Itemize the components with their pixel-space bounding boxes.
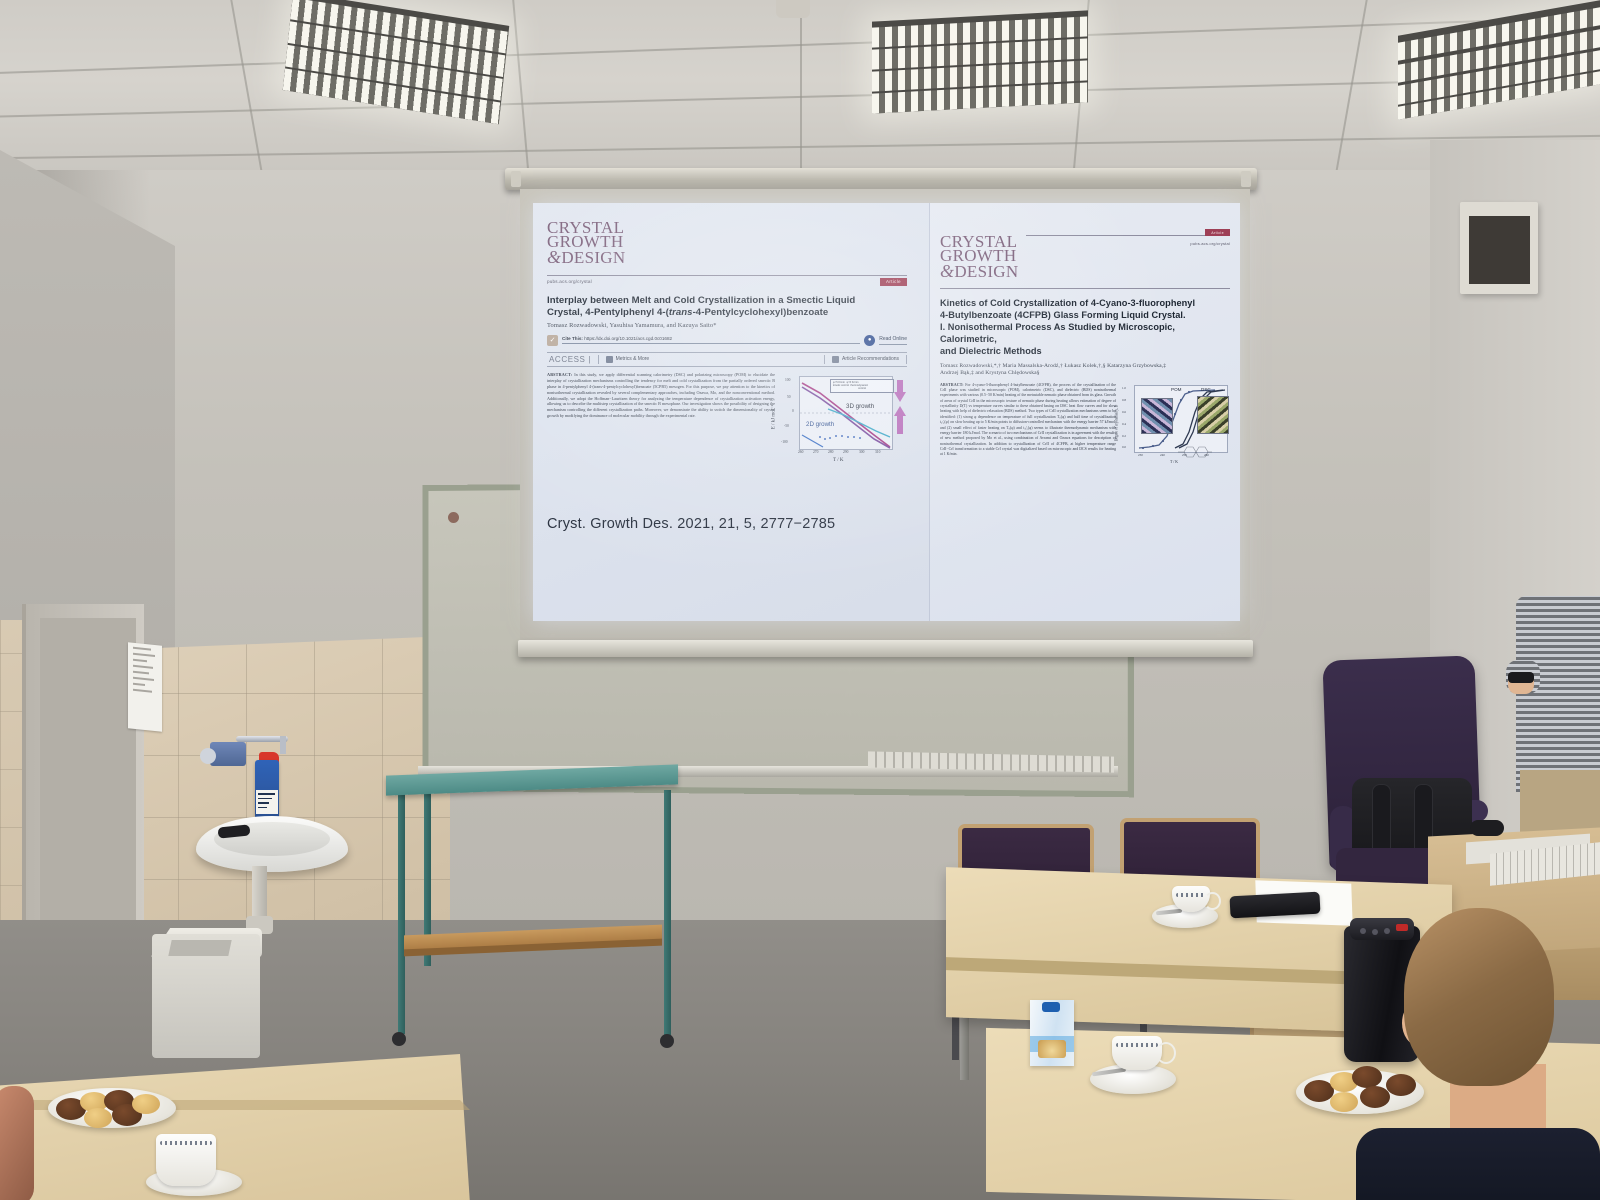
article-badge-left: Article: [880, 278, 907, 286]
screen-roller-housing[interactable]: [505, 168, 1257, 190]
article-badge-right: Article: [1205, 229, 1230, 236]
chart1-annotation-2d: 2D growth: [806, 421, 834, 428]
spray-bottle-label: [256, 790, 278, 814]
article-title-left-line1: Interplay between Melt and Cold Crystall…: [547, 295, 855, 306]
masthead-design: DESIGN: [561, 248, 625, 267]
pom-texture-1: [1141, 398, 1173, 434]
trolley-leg-2: [664, 790, 671, 1036]
access-label[interactable]: ACCESS: [549, 355, 586, 364]
article-title-right-3: I. Nonisothermal Process As Studied by M…: [940, 322, 1175, 344]
cup-handle-2: [1156, 1042, 1176, 1064]
board-magnet: [448, 512, 459, 523]
trolley-caster-2: [660, 1034, 674, 1048]
wall-speaker: [1460, 202, 1538, 294]
faucet-outlet: [280, 736, 286, 754]
abstract-left: ABSTRACT: In this study, we apply differ…: [547, 372, 775, 419]
chart1-arrows: [893, 378, 907, 450]
trolley-caster-1: [392, 1032, 406, 1046]
masthead-line3: &DESIGN: [547, 250, 927, 265]
chart2-legend-pom: POM: [1171, 387, 1181, 392]
faucet-knob[interactable]: [200, 748, 216, 764]
chart1-xtick-1: 270: [813, 450, 818, 454]
chart2-legend-dsc: DSC: [1201, 387, 1211, 392]
wall-notice: [128, 642, 162, 732]
cookie-12: [132, 1094, 160, 1114]
chart2-xtick-1: 240: [1160, 453, 1165, 457]
abstract-body-left: In this study, we apply differential sca…: [547, 372, 775, 418]
chart2-ylabel: Degree of crystallinity, D: [1114, 404, 1118, 441]
presentation-clicker[interactable]: [1508, 672, 1534, 683]
chart1-xtick-3: 290: [843, 450, 848, 454]
pom-texture-2: [1197, 396, 1229, 434]
bar-chart-icon: [606, 356, 613, 363]
masthead-right-design: DESIGN: [954, 262, 1018, 281]
chart1-annotation-3d: 3D growth: [846, 403, 874, 410]
trolley-leg-1: [398, 784, 405, 1034]
toc-graphic-right: Degree of crystallinity, D: [1122, 383, 1228, 471]
chart2-xlabel: T / K: [1170, 460, 1178, 464]
masthead-rule: [547, 275, 907, 276]
chart1-plot-area: φ<5 K/min φ>5 K/min kinetic control ther…: [799, 376, 893, 450]
chart1-xtick-4: 300: [859, 450, 864, 454]
recommendations-label: Article Recommendations: [842, 356, 899, 362]
cup-handle-1: [1204, 892, 1221, 910]
foreground-person-shoulder: [0, 1086, 34, 1200]
screen-bottom-bar[interactable]: [518, 640, 1253, 657]
access-bar-left: ACCESS | Metrics & More Article Recommen…: [547, 352, 907, 367]
milk-carton-image: [1038, 1040, 1066, 1058]
abstract-right: ABSTRACT: For 4-cyano-3-fluorophenyl 4-b…: [940, 383, 1116, 458]
chart1-xtick-2: 280: [828, 450, 833, 454]
thermos-button-2[interactable]: [1372, 929, 1378, 935]
chart1-legend: φ<5 K/min φ>5 K/min kinetic control ther…: [830, 379, 894, 393]
article-title-left-line2b: -4-Pentylcyclohexyl)benzoate: [693, 307, 829, 318]
ceiling-light-center: [872, 10, 1088, 113]
chart1-ylabel: E / kJ mol⁻¹: [770, 405, 776, 430]
cookie-4: [1330, 1092, 1358, 1112]
listener-shoulders: [1356, 1128, 1600, 1200]
ceiling: [0, 0, 1600, 178]
recommendations-item[interactable]: Article Recommendations: [825, 356, 906, 363]
article-title-right-2: 4-Butylbenzoate (4CFPB) Glass Forming Li…: [940, 310, 1186, 320]
mouse[interactable]: [1470, 820, 1504, 836]
citation-line-left: Cryst. Growth Des. 2021, 21, 5, 2777−278…: [547, 516, 927, 532]
slide-right-article: CRYSTAL GROWTH &DESIGN Article pubs.acs.…: [929, 203, 1240, 621]
milk-carton-cap[interactable]: [1042, 1002, 1060, 1012]
chart1-xlabel: T / K: [833, 458, 843, 463]
cookie-3: [1352, 1066, 1382, 1088]
cite-this-label: Cite This:: [562, 336, 583, 341]
waste-bin-flap[interactable]: [168, 940, 231, 956]
slide-left-article: CRYSTAL GROWTH &DESIGN pubs.acs.org/crys…: [547, 203, 927, 621]
cite-check-icon: ✓: [547, 335, 558, 346]
metrics-label: Metrics & More: [616, 356, 650, 362]
cookie-6: [1386, 1074, 1416, 1096]
thermos-indicator: [1396, 924, 1408, 931]
metrics-item[interactable]: Metrics & More: [599, 356, 657, 363]
masthead-right-line3: &DESIGN: [940, 264, 1230, 279]
glasses-case[interactable]: [1229, 892, 1320, 919]
article-title-left: Interplay between Melt and Cold Crystall…: [547, 295, 907, 319]
journal-masthead-right: CRYSTAL GROWTH &DESIGN: [940, 235, 1230, 279]
article-authors-left: Tomasz Rozwadowski, Yasuhisa Yamamura, a…: [547, 322, 907, 329]
photo-scene: CRYSTAL GROWTH &DESIGN pubs.acs.org/crys…: [0, 0, 1600, 1200]
projected-slide: CRYSTAL GROWTH &DESIGN pubs.acs.org/crys…: [533, 203, 1239, 621]
recommendations-icon: [832, 356, 839, 363]
read-online-icon[interactable]: ●: [864, 335, 875, 346]
article-authors-right-1: Tomasz Rozwadowski,*,† Maria Massalska-A…: [940, 363, 1230, 369]
abstract-head-right: ABSTRACT:: [940, 383, 964, 387]
article-title-right-4: and Dielectric Methods: [940, 346, 1042, 356]
article-title-left-italic: trans: [669, 307, 693, 318]
molecule-structure-icon: [1178, 439, 1212, 465]
ceiling-sensor: [776, 0, 810, 18]
presenter-torso: [1516, 596, 1600, 792]
cookie-10: [84, 1108, 112, 1128]
article-authors-right-2: Andrzej Bąk,‡ and Krystyna Chlędowska§: [940, 370, 1230, 376]
journal-url-left: pubs.acs.org/crystal: [547, 279, 592, 284]
masthead-ampersand: &: [547, 247, 561, 267]
toc-graphic-left: E / kJ mol⁻¹: [783, 374, 905, 470]
cookie-5: [1360, 1086, 1390, 1108]
coffee-cup-2[interactable]: [1112, 1036, 1162, 1070]
coffee-cup-3[interactable]: [156, 1134, 216, 1186]
article-title-left-line2a: Crystal, 4-Pentylphenyl 4-(: [547, 307, 669, 318]
abstract-body-right: For 4-cyano-3-fluorophenyl 4-butylbenzoa…: [940, 383, 1116, 457]
thermos-button-3[interactable]: [1384, 928, 1390, 934]
article-title-right-1: Kinetics of Cold Crystallization of 4-Cy…: [940, 298, 1195, 308]
thermos-button-1[interactable]: [1360, 928, 1366, 934]
article-title-right: Kinetics of Cold Crystallization of 4-Cy…: [940, 298, 1230, 358]
cite-this-text[interactable]: Cite This: https://dx.doi.org/10.1021/ac…: [562, 336, 860, 344]
cite-bar-left: ✓ Cite This: https://dx.doi.org/10.1021/…: [547, 335, 907, 346]
abstract-head-left: ABSTRACT:: [547, 372, 572, 377]
read-online-label[interactable]: Read Online: [879, 336, 907, 345]
chart1-xtick-5: 310: [875, 450, 880, 454]
chart1-xtick-0: 260: [798, 450, 803, 454]
journal-url-right: pubs.acs.org/crystal: [1190, 241, 1230, 246]
listener-head: [1404, 908, 1554, 1086]
cite-doi-link[interactable]: https://dx.doi.org/10.1021/acs.cgd.0c016…: [584, 336, 672, 341]
journal-masthead-left: CRYSTAL GROWTH &DESIGN: [547, 221, 927, 265]
chart2-xtick-0: 230: [1138, 453, 1143, 457]
masthead-right-ampersand: &: [940, 261, 954, 281]
